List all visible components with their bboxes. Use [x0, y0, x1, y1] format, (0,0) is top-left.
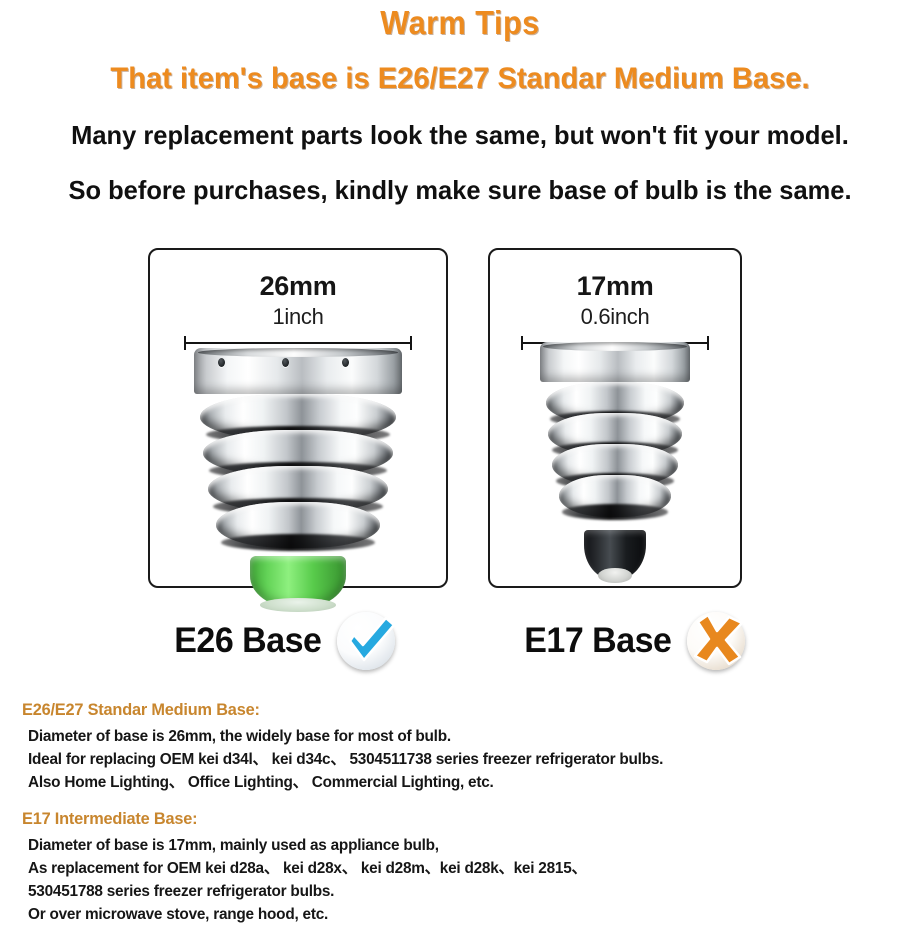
section-line: Diameter of base is 17mm, mainly used as…: [28, 834, 867, 857]
section-line: As replacement for OEM kei d28a、 kei d28…: [28, 857, 867, 880]
cross-badge: [684, 610, 750, 672]
e17-label-group: E17 Base: [522, 610, 750, 672]
bulb-skirt: [540, 342, 690, 382]
header-subtitle: That item's base is E26/E27 Standar Medi…: [14, 62, 906, 96]
header-line-2: So before purchases, kindly make sure ba…: [9, 175, 911, 206]
section-e26: E26/E27 Standar Medium Base: Diameter of…: [22, 700, 902, 794]
bulb-tip: [250, 556, 346, 608]
bulb-dimple: [218, 358, 225, 367]
dimension-cap-right: [707, 336, 709, 350]
header-block: Warm Tips That item's base is E26/E27 St…: [0, 0, 920, 206]
e26-bulb-base-image: [194, 348, 402, 608]
page-title: Warm Tips: [32, 4, 888, 42]
section-line: Ideal for replacing OEM kei d34l、 kei d3…: [28, 748, 867, 771]
bulb-threads: [546, 382, 684, 534]
section-line: Diameter of base is 26mm, the widely bas…: [28, 725, 867, 748]
header-line-1: Many replacement parts look the same, bu…: [9, 120, 911, 151]
section-heading: E17 Intermediate Base:: [22, 809, 867, 829]
description-block: E26/E27 Standar Medium Base: Diameter of…: [22, 700, 902, 926]
e17-bulb-base-image: [540, 342, 690, 580]
cross-icon: [684, 610, 750, 672]
thread-band: [216, 502, 380, 548]
bulb-dimple: [342, 358, 349, 367]
e17-inch-label: 0.6inch: [490, 304, 740, 330]
section-line: Or over microwave stove, range hood, etc…: [28, 903, 867, 926]
bulb-dimple: [282, 358, 289, 367]
e26-inch-label: 1inch: [150, 304, 446, 330]
comparison-panels: 26mm 1inch 17mm 0.6inch: [0, 248, 920, 598]
section-body: Diameter of base is 26mm, the widely bas…: [28, 725, 902, 794]
e26-mm-label: 26mm: [150, 271, 446, 302]
bulb-rim: [543, 342, 687, 351]
thread-band: [559, 475, 671, 517]
check-icon: [334, 610, 400, 672]
panel-e26: 26mm 1inch: [148, 248, 448, 588]
dimension-cap-right: [410, 336, 412, 350]
e17-mm-label: 17mm: [490, 271, 740, 302]
bulb-skirt: [194, 348, 402, 394]
e26-label-group: E26 Base: [172, 610, 400, 672]
bulb-rim: [198, 348, 398, 357]
section-line: Also Home Lighting、 Office Lighting、 Com…: [28, 771, 867, 794]
e26-base-label: E26 Base: [174, 621, 321, 661]
base-label-row: E26 Base E17 Base: [0, 604, 920, 686]
e17-base-label: E17 Base: [524, 621, 671, 661]
bulb-tip: [584, 530, 646, 580]
section-spacer: [22, 794, 902, 809]
section-line: 530451788 series freezer refrigerator bu…: [28, 880, 867, 903]
section-heading: E26/E27 Standar Medium Base:: [22, 700, 867, 720]
bulb-threads: [200, 394, 396, 560]
section-body: Diameter of base is 17mm, mainly used as…: [28, 834, 902, 926]
section-e17: E17 Intermediate Base: Diameter of base …: [22, 809, 902, 926]
panel-e17: 17mm 0.6inch: [488, 248, 742, 588]
dimension-rule: [184, 342, 412, 344]
check-badge: [334, 610, 400, 672]
